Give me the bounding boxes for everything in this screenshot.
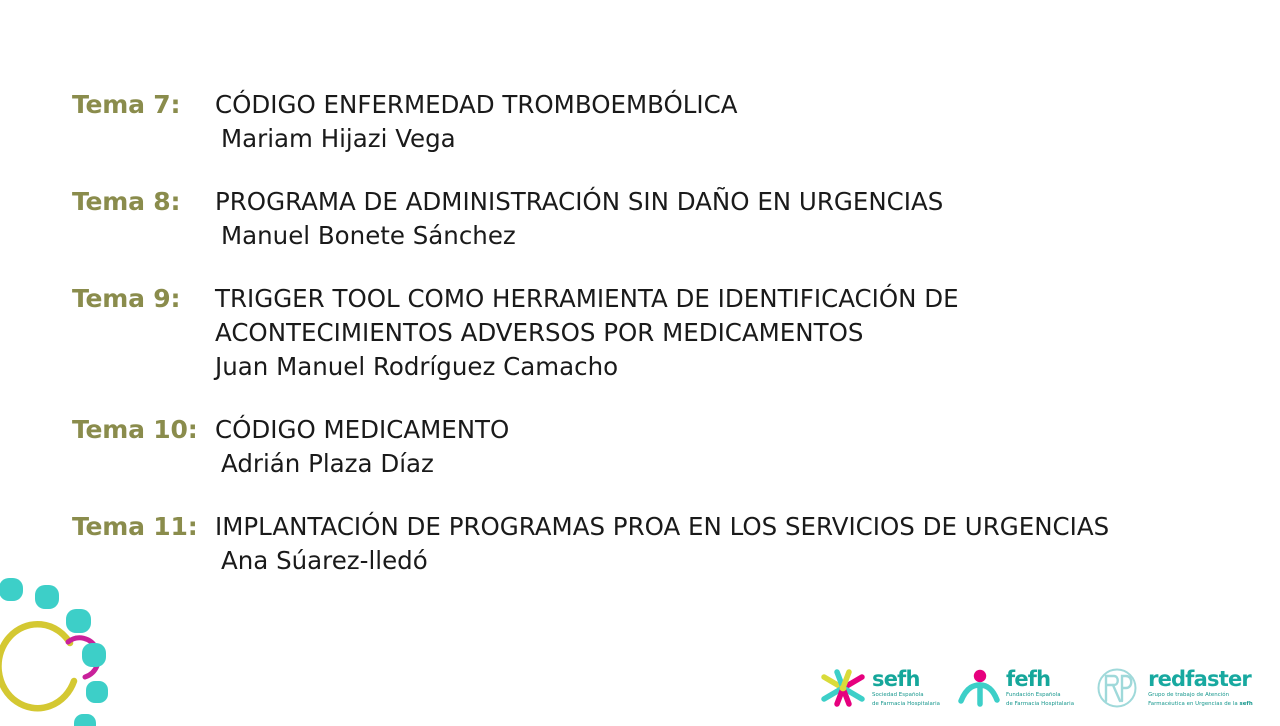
agenda-item-title-line: ACONTECIMIENTOS ADVERSOS POR MEDICAMENTO…	[215, 316, 1262, 350]
teal-dot-icon	[86, 681, 108, 703]
agenda-item-body: IMPLANTACIÓN DE PROGRAMAS PROA EN LOS SE…	[215, 510, 1262, 578]
agenda-item-tema-9: Tema 9: TRIGGER TOOL COMO HERRAMIENTA DE…	[72, 282, 1262, 384]
logo-redfaster-subtitle-line2: Farmacéutica en Urgencias de la sefh	[1148, 701, 1253, 708]
logo-fefh-text: fefh Fundación Española de Farmacia Hosp…	[1006, 669, 1074, 708]
teal-dot-icon	[66, 609, 91, 633]
logo-sefh-wordmark: sefh	[872, 669, 940, 690]
logo-redfaster-subtitle-sefh: sefh	[1239, 701, 1252, 707]
logo-fefh: fefh Fundación Española de Farmacia Hosp…	[958, 668, 1074, 708]
agenda-item-title-line: TRIGGER TOOL COMO HERRAMIENTA DE IDENTIF…	[215, 282, 1262, 316]
agenda-item-tema-10: Tema 10: CÓDIGO MEDICAMENTO Adrián Plaza…	[72, 413, 1262, 481]
circles-motif-decoration	[0, 571, 126, 726]
logo-fefh-wordmark: fefh	[1006, 669, 1074, 690]
agenda-item-title-line: PROGRAMA DE ADMINISTRACIÓN SIN DAÑO EN U…	[215, 185, 1262, 219]
teal-dot-icon	[74, 714, 96, 726]
teal-dot-icon	[82, 643, 106, 667]
agenda-item-label: Tema 7:	[72, 88, 215, 122]
agenda-item-speaker: Mariam Hijazi Vega	[215, 122, 1262, 156]
logo-sefh-subtitle-line1: Sociedad Española	[872, 692, 940, 699]
logo-redfaster-subtitle-line1: Grupo de trabajo de Atención	[1148, 692, 1253, 699]
logo-redfaster: redfaster Grupo de trabajo de Atención F…	[1092, 667, 1253, 709]
agenda-item-label: Tema 11:	[72, 510, 215, 544]
logo-sefh-subtitle-line2: de Farmacia Hospitalaria	[872, 701, 940, 708]
slide-canvas: Tema 7: CÓDIGO ENFERMEDAD TROMBOEMBÓLICA…	[0, 0, 1280, 720]
gold-ring-icon	[0, 624, 74, 708]
agenda-item-tema-11: Tema 11: IMPLANTACIÓN DE PROGRAMAS PROA …	[72, 510, 1262, 578]
agenda-item-speaker: Manuel Bonete Sánchez	[215, 219, 1262, 253]
sefh-pinwheel-icon	[820, 668, 866, 708]
logo-sefh-text: sefh Sociedad Española de Farmacia Hospi…	[872, 669, 940, 708]
agenda-list: Tema 7: CÓDIGO ENFERMEDAD TROMBOEMBÓLICA…	[72, 88, 1262, 578]
sefh-center-dot-icon	[840, 685, 847, 692]
agenda-item-speaker: Adrián Plaza Díaz	[215, 447, 1262, 481]
magenta-arc-icon	[68, 638, 99, 677]
agenda-item-title-line: CÓDIGO ENFERMEDAD TROMBOEMBÓLICA	[215, 88, 1262, 122]
logo-redfaster-text: redfaster Grupo de trabajo de Atención F…	[1148, 669, 1253, 708]
logo-redfaster-wordmark: redfaster	[1148, 669, 1253, 690]
agenda-item-body: CÓDIGO MEDICAMENTO Adrián Plaza Díaz	[215, 413, 1262, 481]
logo-sefh: sefh Sociedad Española de Farmacia Hospi…	[820, 668, 940, 708]
agenda-item-speaker: Juan Manuel Rodríguez Camacho	[215, 350, 1262, 384]
agenda-item-title-line: CÓDIGO MEDICAMENTO	[215, 413, 1262, 447]
agenda-item-body: PROGRAMA DE ADMINISTRACIÓN SIN DAÑO EN U…	[215, 185, 1262, 253]
agenda-item-label: Tema 8:	[72, 185, 215, 219]
redfaster-ring-icon	[1099, 670, 1136, 707]
teal-dot-icon	[35, 585, 59, 609]
agenda-item-body: TRIGGER TOOL COMO HERRAMIENTA DE IDENTIF…	[215, 282, 1262, 384]
agenda-item-tema-8: Tema 8: PROGRAMA DE ADMINISTRACIÓN SIN D…	[72, 185, 1262, 253]
sponsor-logo-strip: sefh Sociedad Española de Farmacia Hospi…	[820, 660, 1270, 716]
teal-dot-icon	[0, 578, 23, 601]
fefh-figure-icon	[958, 668, 1000, 708]
redfaster-monogram-icon	[1092, 667, 1142, 709]
agenda-item-body: CÓDIGO ENFERMEDAD TROMBOEMBÓLICA Mariam …	[215, 88, 1262, 156]
agenda-item-label: Tema 10:	[72, 413, 215, 447]
agenda-item-speaker: Ana Súarez-lledó	[215, 544, 1262, 578]
agenda-item-title-line: IMPLANTACIÓN DE PROGRAMAS PROA EN LOS SE…	[215, 510, 1262, 544]
logo-fefh-subtitle-line1: Fundación Española	[1006, 692, 1074, 699]
logo-fefh-subtitle-line2: de Farmacia Hospitalaria	[1006, 701, 1074, 708]
logo-redfaster-subtitle-line2-text: Farmacéutica en Urgencias de la	[1148, 701, 1239, 707]
fefh-head-icon	[974, 670, 986, 682]
agenda-item-label: Tema 9:	[72, 282, 215, 316]
agenda-item-tema-7: Tema 7: CÓDIGO ENFERMEDAD TROMBOEMBÓLICA…	[72, 88, 1262, 156]
